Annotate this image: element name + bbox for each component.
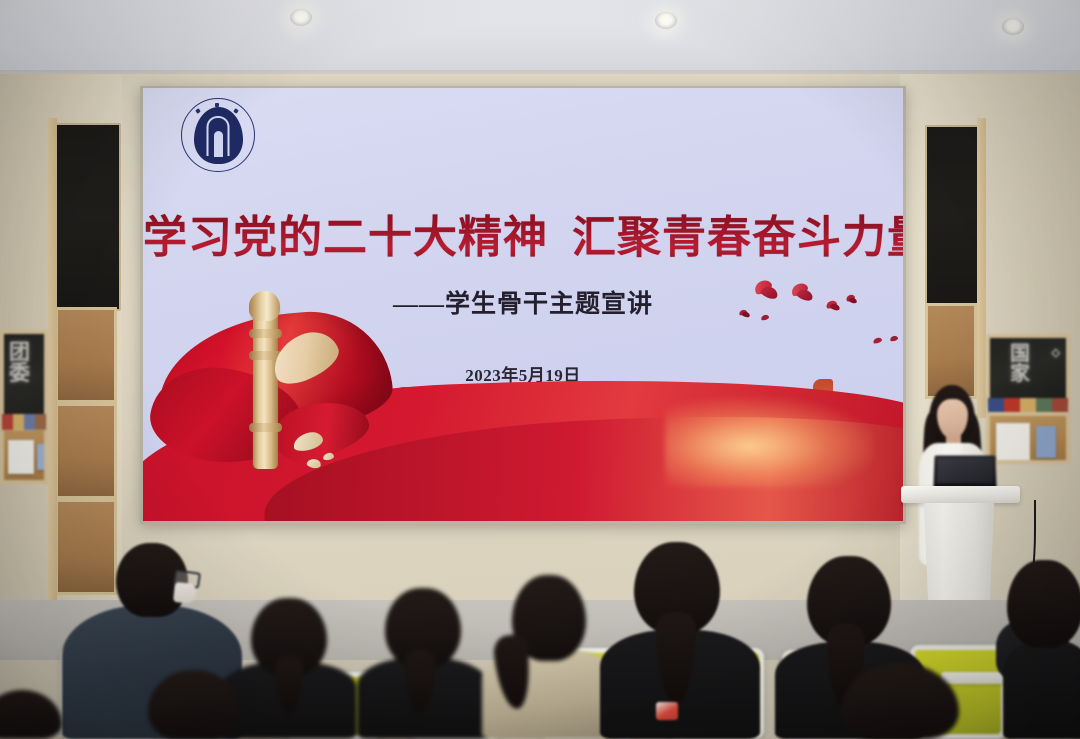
audience-member <box>357 588 489 739</box>
audience-member <box>1003 560 1080 739</box>
audience-member <box>600 542 760 739</box>
right-corkboard <box>986 412 1070 464</box>
left-acoustic-panel <box>55 123 121 311</box>
left-photo-strip <box>2 414 46 430</box>
downlight-icon <box>655 12 677 29</box>
left-chalk-text: 团 委 <box>9 342 30 384</box>
slide-title: 学习党的二十大精神 汇聚青春奋斗力量 <box>143 201 903 265</box>
torch-column-icon <box>253 303 278 469</box>
dove-icon <box>761 315 771 322</box>
dove-icon <box>846 295 858 304</box>
dove-icon <box>323 452 335 460</box>
notice-photo <box>1036 426 1056 458</box>
podium-top <box>901 486 1020 503</box>
audience-member <box>128 670 258 739</box>
dove-icon <box>890 336 900 343</box>
photo-scene: 团 委 国 家 ◇ <box>0 0 1080 739</box>
left-shelf-niche <box>55 403 117 499</box>
ribbon-highlight <box>665 397 875 487</box>
notice-paper <box>996 423 1030 461</box>
dove-icon <box>306 457 322 469</box>
notice-photo <box>37 444 48 470</box>
audience-member <box>0 690 62 739</box>
downlight-icon <box>1002 18 1024 35</box>
left-corkboard <box>0 426 48 484</box>
chalk-doodle: ◇ <box>1052 348 1060 359</box>
ceiling <box>0 0 1080 78</box>
right-chalk-text: 国 家 <box>1010 344 1030 384</box>
dove-icon <box>739 310 750 318</box>
dove-icon <box>826 301 841 311</box>
red-flag-graphic <box>157 307 407 485</box>
right-shelf-divider <box>977 118 986 418</box>
dove-icon <box>754 281 780 299</box>
lanyard-badge <box>656 702 678 720</box>
right-chalkboard: 国 家 ◇ <box>986 334 1070 408</box>
face-mask <box>173 582 197 604</box>
dove-icon <box>791 284 815 301</box>
left-shelf-niche <box>55 307 117 403</box>
audience-member <box>827 663 973 739</box>
presentation-slide[interactable]: 学习党的二十大精神 汇聚青春奋斗力量 ——学生骨干主题宣讲 2023年5月19日 <box>143 88 903 521</box>
downlight-icon <box>290 9 312 26</box>
university-seal-icon <box>181 98 255 172</box>
right-acoustic-panel <box>925 125 981 307</box>
presenter-laptop[interactable] <box>933 455 996 489</box>
left-shelf-divider <box>48 118 57 608</box>
dove-icon <box>873 338 884 346</box>
notice-paper <box>8 440 34 474</box>
